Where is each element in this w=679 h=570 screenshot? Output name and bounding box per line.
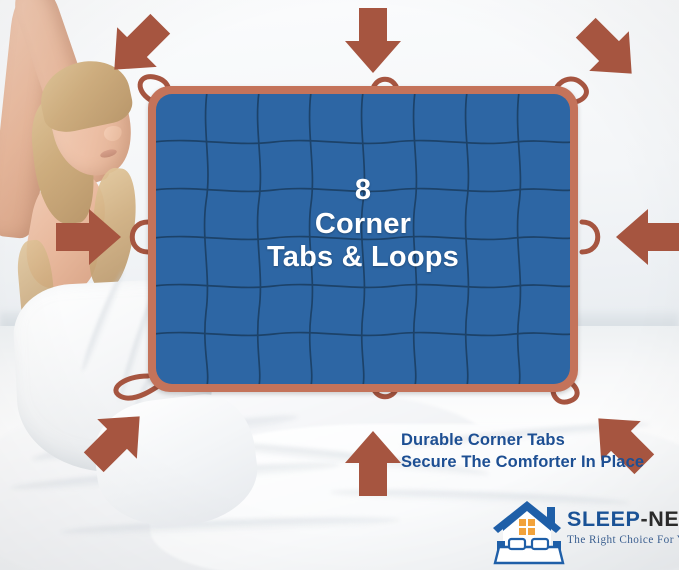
arrow-bottom-left-diagonal [74,397,160,483]
brand-name-first: SLEEP [567,507,641,531]
feature-tagline: Durable Corner Tabs Secure The Comforter… [401,430,671,474]
arrow-bottom-center [345,431,401,496]
brand-wordmark: SLEEP-NEST The Right Choice For You [567,509,677,546]
arrow-top-right-diagonal [566,8,652,94]
brand-logo: SLEEP-NEST The Right Choice For You [487,495,675,567]
tagline-line-2: Secure The Comforter In Place [401,452,671,474]
arrow-right-center [616,209,679,265]
brand-tagline: The Right Choice For You [567,534,677,546]
house-with-bed-icon [487,495,571,565]
comforter-caption: 8 Corner Tabs & Loops [139,174,587,275]
caption-line-2: Corner [139,208,587,242]
arrow-top-left-diagonal [95,4,181,90]
tagline-line-1: Durable Corner Tabs [401,430,671,452]
arrow-top-center [345,8,401,73]
brand-name-second: NEST [648,507,679,531]
caption-line-3: Tabs & Loops [139,241,587,275]
caption-line-1: 8 [139,174,587,208]
product-image-canvas: 8 Corner Tabs & Loops [0,0,679,570]
pointer-arrows-group [0,0,679,570]
arrow-left-center [56,209,121,265]
brand-name: SLEEP-NEST [567,509,677,531]
